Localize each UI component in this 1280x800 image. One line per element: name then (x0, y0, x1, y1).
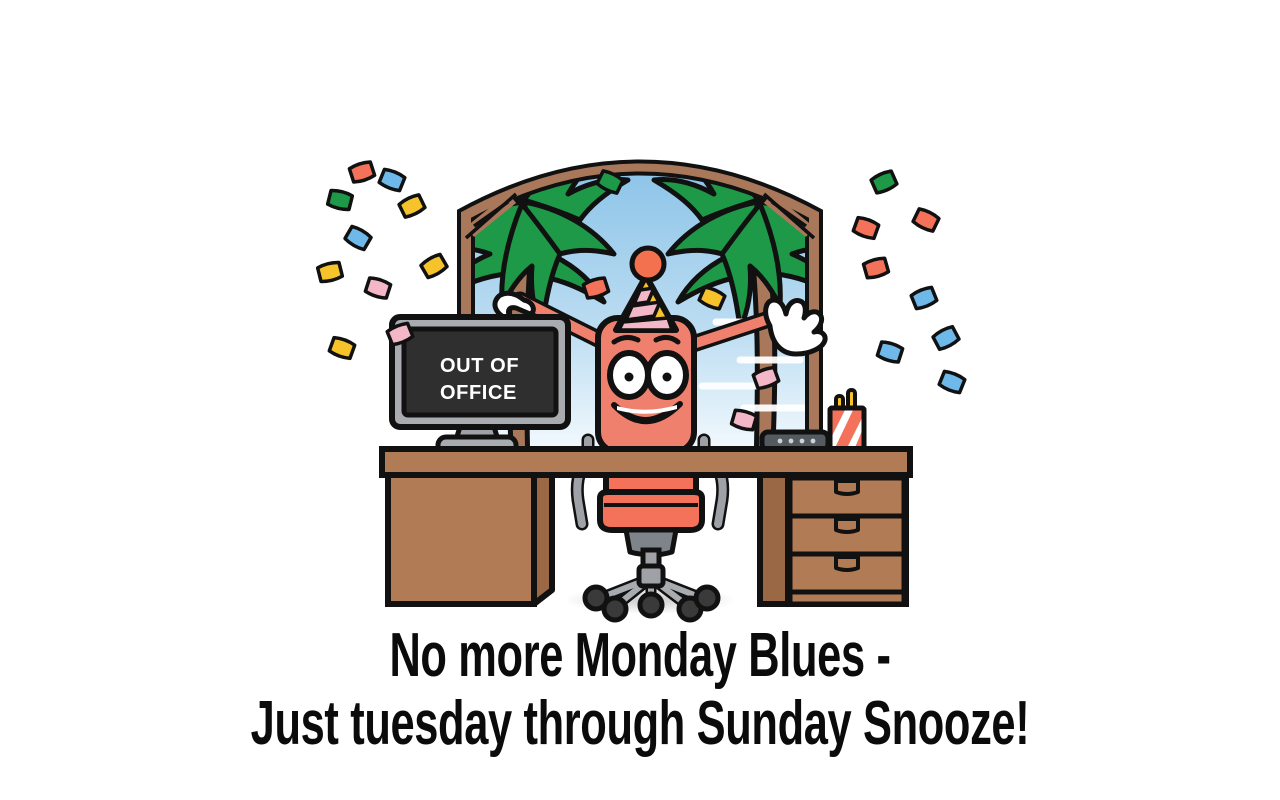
drawer-handle[interactable] (836, 481, 858, 494)
monitor-screen-text: OUT OF OFFICE (406, 334, 554, 426)
confetti-piece (912, 208, 939, 233)
caption-line-2: Just tuesday through Sunday Snooze! (192, 690, 1088, 758)
confetti-piece (863, 257, 889, 279)
confetti-piece (349, 161, 375, 184)
chair-seat (600, 492, 702, 530)
caption-line-1: No more Monday Blues - (192, 622, 1088, 690)
greeting-card-canvas: OUT OF OFFICE Time to put your feet up! … (0, 0, 1280, 800)
desk-left-pedestal (388, 475, 534, 604)
chair-caster (696, 587, 718, 609)
drawer-handle[interactable] (836, 519, 858, 532)
confetti-piece (853, 216, 879, 239)
confetti-piece (317, 261, 342, 283)
confetti-piece (870, 170, 897, 194)
confetti-piece (420, 253, 448, 279)
confetti-piece (398, 194, 425, 219)
confetti-piece (932, 325, 959, 350)
desk-left-pedestal-side (534, 475, 552, 604)
caption-block: No more Monday Blues - Just tuesday thro… (0, 622, 1280, 758)
confetti-piece (939, 370, 966, 394)
screen-line-2: OFFICE (440, 380, 517, 407)
screen-line-1: OUT OF (440, 353, 519, 380)
confetti-piece (365, 277, 391, 300)
desk-plinth (790, 592, 904, 604)
confetti-piece (344, 225, 372, 251)
desk-top (382, 449, 910, 475)
chair-caster (604, 598, 626, 620)
confetti-piece (329, 336, 355, 359)
party-hat-pompom (632, 248, 664, 280)
pencil-cup (830, 390, 864, 450)
chair-caster (640, 594, 662, 616)
confetti-piece (877, 341, 903, 364)
drawer-handle[interactable] (836, 557, 858, 570)
desk-drawers (790, 478, 904, 604)
confetti-piece (327, 189, 352, 211)
confetti-piece (379, 168, 406, 192)
confetti-piece (911, 286, 938, 310)
